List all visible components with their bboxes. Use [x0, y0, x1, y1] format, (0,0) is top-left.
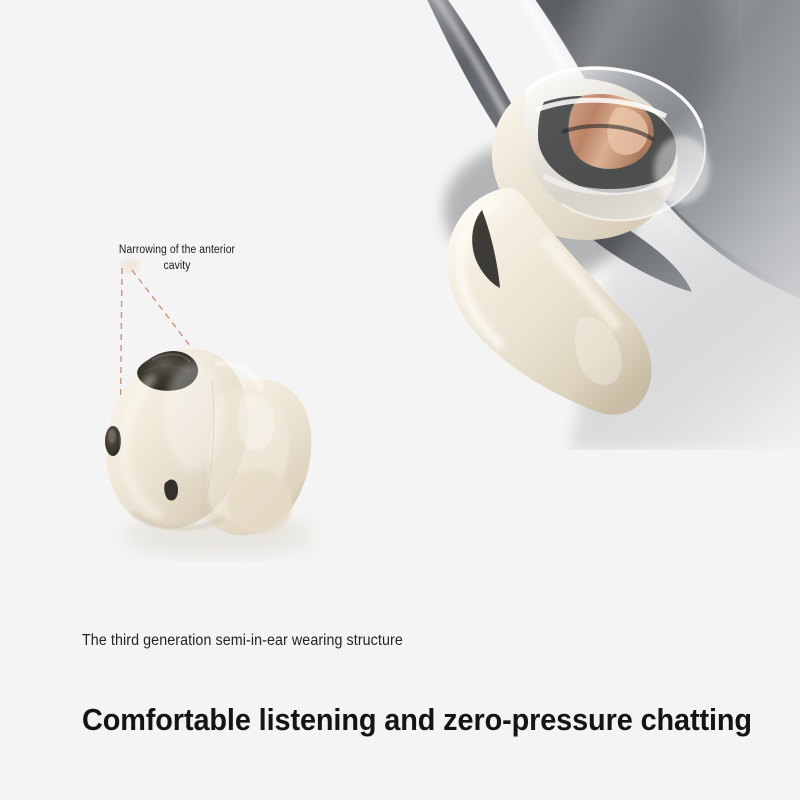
feature-subtitle: The third generation semi-in-ear wearing…	[82, 632, 708, 650]
callout-line-1: Narrowing of the anterior	[101, 243, 254, 259]
callout-line-2: cavity	[101, 259, 254, 275]
anterior-cavity-callout: Narrowing of the anterior cavity	[101, 243, 254, 275]
marketing-copy: The third generation semi-in-ear wearing…	[82, 632, 762, 738]
earbud-closeup-render	[90, 320, 350, 570]
product-feature-page: Narrowing of the anterior cavity	[0, 0, 800, 800]
feature-headline: Comfortable listening and zero-pressure …	[82, 702, 714, 738]
ear-with-earbud-render	[330, 0, 800, 450]
